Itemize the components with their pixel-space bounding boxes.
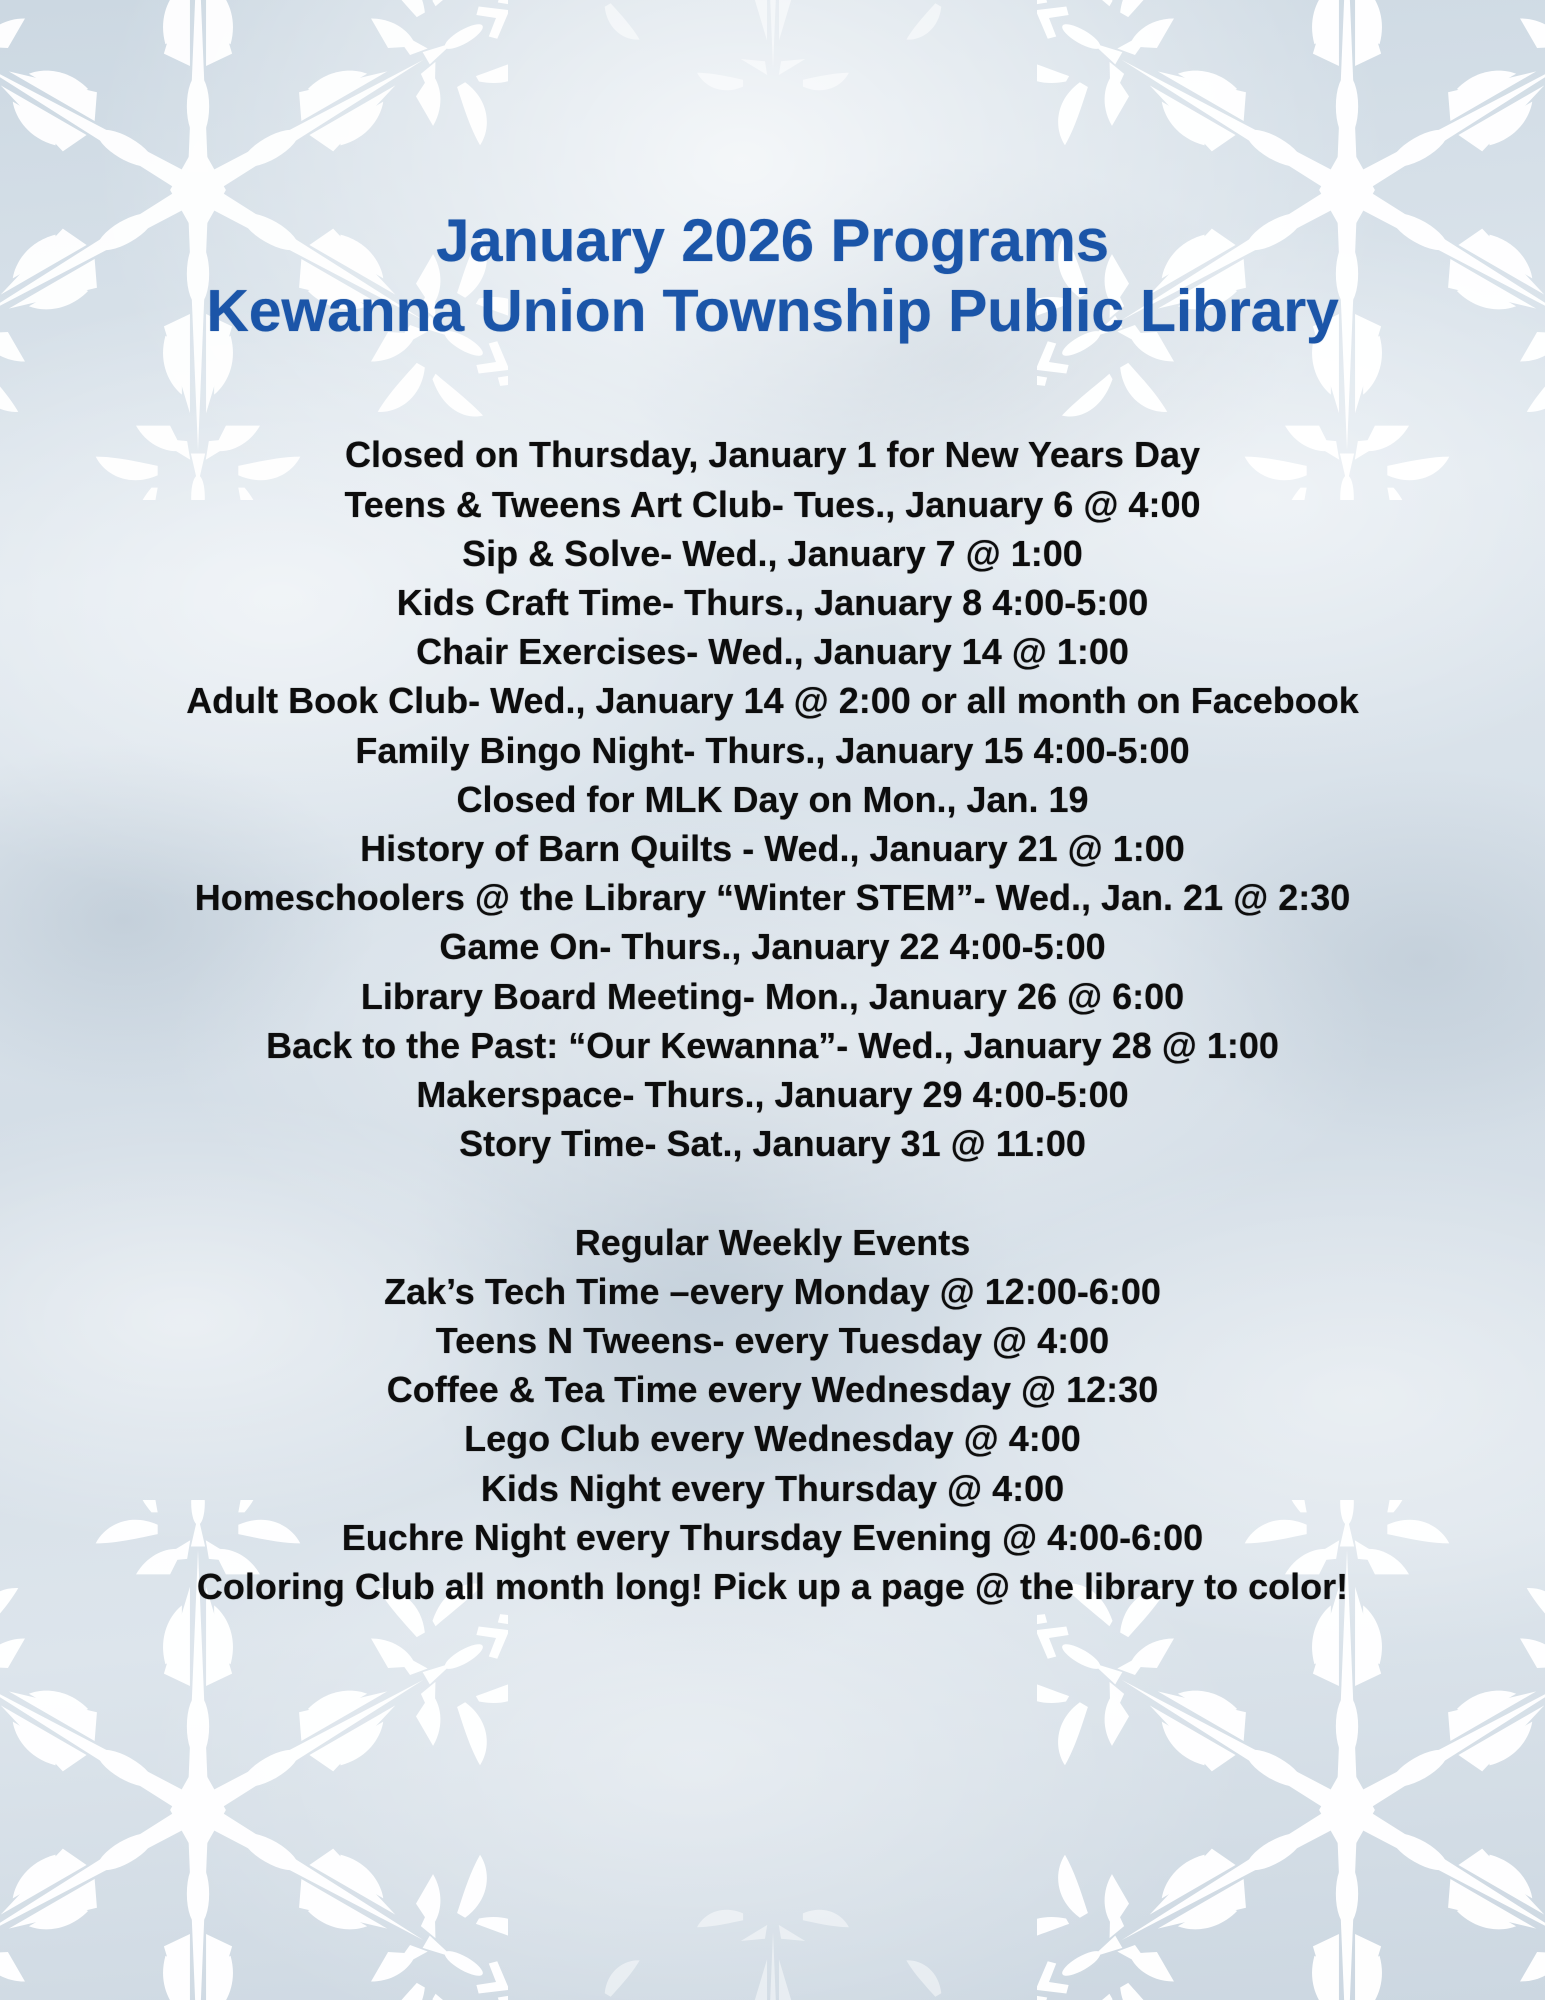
page-title-line-2: Kewanna Union Township Public Library — [0, 277, 1545, 347]
poster-title-block: January 2026 Programs Kewanna Union Town… — [0, 206, 1545, 346]
list-item: Kids Night every Thursday @ 4:00 — [0, 1464, 1545, 1513]
list-item: Sip & Solve- Wed., January 7 @ 1:00 — [0, 529, 1545, 578]
list-item: Homeschoolers @ the Library “Winter STEM… — [0, 873, 1545, 922]
list-item: Library Board Meeting- Mon., January 26 … — [0, 972, 1545, 1021]
list-item: Kids Craft Time- Thurs., January 8 4:00-… — [0, 578, 1545, 627]
list-item: Teens N Tweens- every Tuesday @ 4:00 — [0, 1316, 1545, 1365]
list-item: Adult Book Club- Wed., January 14 @ 2:00… — [0, 676, 1545, 725]
weekly-events-section: Regular Weekly Events Zak’s Tech Time –e… — [0, 1218, 1545, 1612]
snowflake-icon-bottom-center — [543, 1895, 1003, 2000]
page-title-line-1: January 2026 Programs — [0, 206, 1545, 277]
list-item: Closed on Thursday, January 1 for New Ye… — [0, 430, 1545, 479]
list-item: Lego Club every Wednesday @ 4:00 — [0, 1414, 1545, 1463]
list-item: History of Barn Quilts - Wed., January 2… — [0, 824, 1545, 873]
section-spacer — [0, 1168, 1545, 1217]
list-item: Coffee & Tea Time every Wednesday @ 12:3… — [0, 1365, 1545, 1414]
weekly-events-heading: Regular Weekly Events — [0, 1218, 1545, 1267]
poster-content: January 2026 Programs Kewanna Union Town… — [0, 0, 1545, 1611]
poster-canvas: January 2026 Programs Kewanna Union Town… — [0, 0, 1545, 2000]
list-item: Closed for MLK Day on Mon., Jan. 19 — [0, 775, 1545, 824]
list-item: Game On- Thurs., January 22 4:00-5:00 — [0, 922, 1545, 971]
list-item: Coloring Club all month long! Pick up a … — [0, 1562, 1545, 1611]
list-item: Chair Exercises- Wed., January 14 @ 1:00 — [0, 627, 1545, 676]
list-item: Zak’s Tech Time –every Monday @ 12:00-6:… — [0, 1267, 1545, 1316]
list-item: Teens & Tweens Art Club- Tues., January … — [0, 480, 1545, 529]
list-item: Makerspace- Thurs., January 29 4:00-5:00 — [0, 1070, 1545, 1119]
list-item: Story Time- Sat., January 31 @ 11:00 — [0, 1119, 1545, 1168]
list-item: Family Bingo Night- Thurs., January 15 4… — [0, 726, 1545, 775]
monthly-events-list: Closed on Thursday, January 1 for New Ye… — [0, 430, 1545, 1168]
list-item: Back to the Past: “Our Kewanna”- Wed., J… — [0, 1021, 1545, 1070]
list-item: Euchre Night every Thursday Evening @ 4:… — [0, 1513, 1545, 1562]
